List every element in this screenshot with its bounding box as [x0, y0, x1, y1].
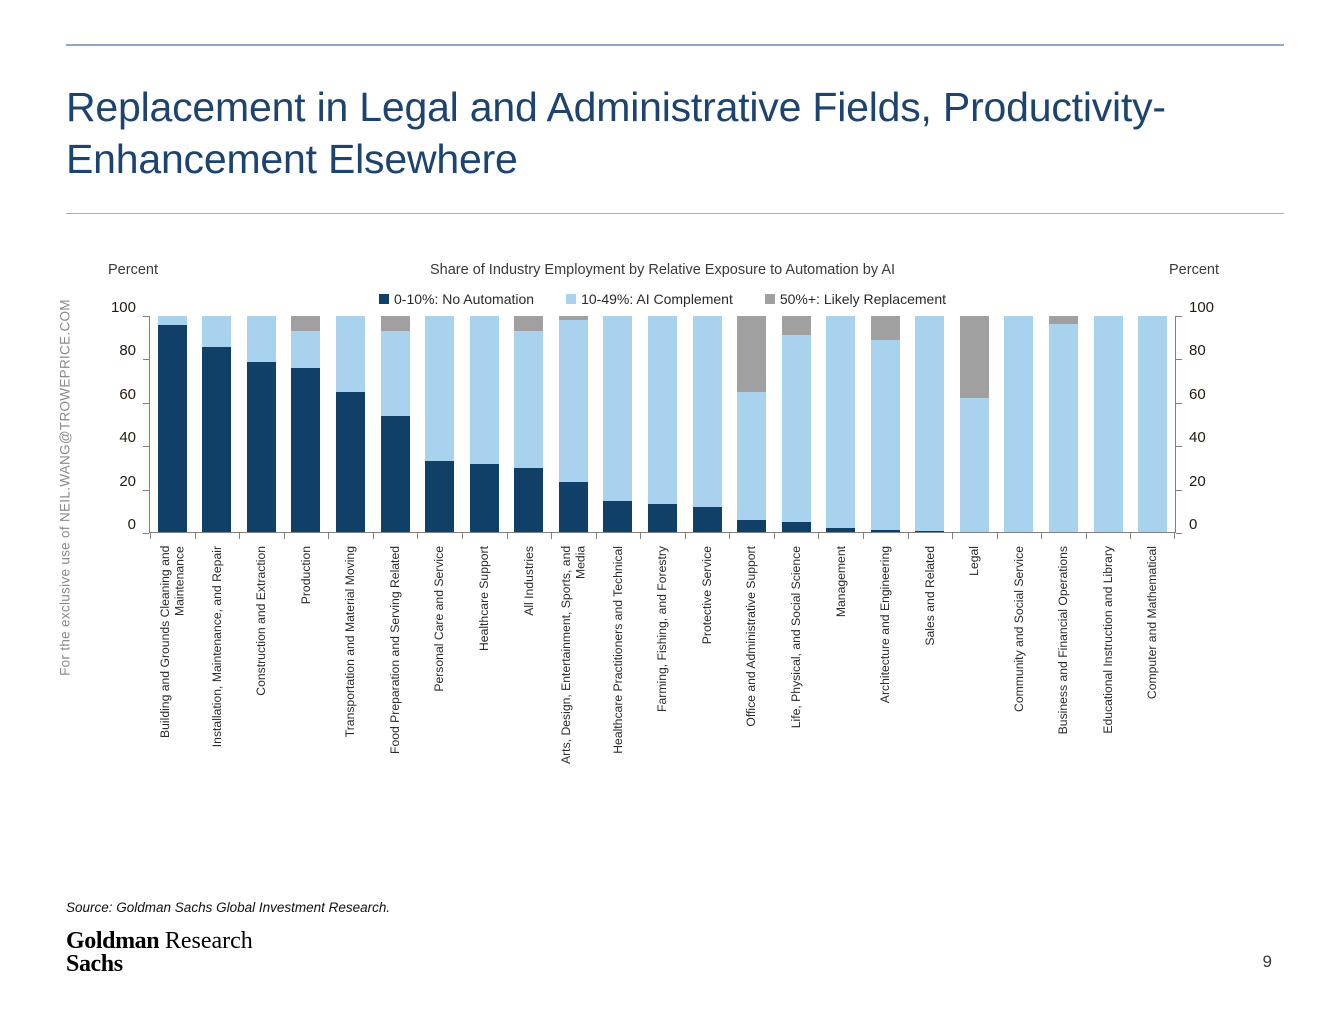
bar-segment-ai-complement: [470, 316, 499, 464]
category-label: Computer and Mathematical: [1145, 546, 1159, 699]
bar-slot: [417, 316, 462, 532]
bar-slot: [373, 316, 418, 532]
bar-segment-no-automation: [381, 416, 410, 532]
category-label-cell: Protective Service: [685, 546, 730, 776]
category-label: Arts, Design, Entertainment, Sports, and…: [559, 546, 588, 771]
bar-segment-likely-replacement: [782, 316, 811, 335]
logo-research: Research: [165, 928, 253, 954]
y-tick-mark-right: [1176, 403, 1182, 404]
bar-segment-ai-complement: [381, 331, 410, 416]
category-label-cell: Production: [284, 546, 329, 776]
stacked-bar[interactable]: [960, 316, 989, 532]
category-label: Life, Physical, and Social Science: [789, 546, 803, 728]
bar-slot: [596, 316, 641, 532]
category-label: Food Preparation and Serving Related: [388, 546, 402, 754]
category-label-cell: Food Preparation and Serving Related: [373, 546, 418, 776]
bar-segment-ai-complement: [782, 335, 811, 522]
bar-segment-likely-replacement: [1049, 316, 1078, 324]
bar-segment-no-automation: [826, 528, 855, 532]
y-tick-label-right-60: 60: [1189, 387, 1206, 402]
bar-segment-ai-complement: [425, 316, 454, 461]
bar-segment-ai-complement: [871, 340, 900, 530]
bar-segment-no-automation: [514, 468, 543, 532]
bar-slot: [1041, 316, 1086, 532]
stacked-bar[interactable]: [1049, 316, 1078, 532]
x-tick: [150, 533, 195, 539]
bar-segment-no-automation: [425, 461, 454, 532]
bar-segment-ai-complement: [915, 316, 944, 531]
y-tick-mark-right: [1176, 490, 1182, 491]
bar-segment-no-automation: [247, 362, 276, 532]
bar-slot: [952, 316, 997, 532]
bar-segment-no-automation: [559, 482, 588, 532]
category-label-cell: Healthcare Support: [462, 546, 507, 776]
category-label-cell: Office and Administrative Support: [729, 546, 774, 776]
bar-segment-likely-replacement: [381, 316, 410, 331]
stacked-bar[interactable]: [425, 316, 454, 532]
y-tick-label-right-80: 80: [1189, 343, 1206, 358]
bar-segment-likely-replacement: [514, 316, 543, 331]
bar-slot: [1086, 316, 1131, 532]
x-tick: [284, 533, 329, 539]
bar-segment-ai-complement: [1049, 324, 1078, 532]
bar-segment-ai-complement: [1094, 316, 1123, 532]
bar-segment-ai-complement: [737, 392, 766, 521]
y-tick-label-right-40: 40: [1189, 430, 1206, 445]
x-tick: [373, 533, 418, 539]
bar-slot: [239, 316, 284, 532]
bar-segment-no-automation: [291, 368, 320, 532]
bar-segment-ai-complement: [1004, 316, 1033, 532]
y-tick-label-left-40: 40: [119, 430, 136, 445]
bar-segment-no-automation: [158, 325, 187, 532]
category-label: Protective Service: [700, 546, 714, 644]
stacked-bar[interactable]: [158, 316, 187, 532]
x-tick: [239, 533, 284, 539]
y-axis-right-ticks: [1175, 316, 1181, 533]
bar-segment-ai-complement: [202, 316, 231, 347]
legend-swatch-no-automation: [379, 294, 389, 304]
bar-slot: [551, 316, 596, 532]
stacked-bar[interactable]: [336, 316, 365, 532]
stacked-bar[interactable]: [693, 316, 722, 532]
category-label: Personal Care and Service: [432, 546, 446, 692]
x-tick: [596, 533, 641, 539]
y-tick-label-left-80: 80: [119, 343, 136, 358]
stacked-bar[interactable]: [826, 316, 855, 532]
category-label-cell: Legal: [952, 546, 997, 776]
category-label: Community and Social Service: [1012, 546, 1026, 712]
category-label: All Industries: [522, 546, 536, 616]
category-label-cell: Business and Financial Operations: [1041, 546, 1086, 776]
bar-slot: [462, 316, 507, 532]
category-label: Production: [299, 546, 313, 604]
stacked-bar[interactable]: [381, 316, 410, 532]
logo-sachs: Sachs: [66, 953, 253, 976]
legend-label-likely-replacement: 50%+: Likely Replacement: [780, 291, 946, 307]
page-number: 9: [1263, 952, 1272, 972]
y-tick-mark-left: [143, 403, 149, 404]
stacked-bar[interactable]: [559, 316, 588, 532]
plot-area: 020406080100 020406080100 Building and G…: [100, 316, 1225, 538]
x-tick: [195, 533, 240, 539]
bar-segment-no-automation: [470, 464, 499, 532]
legend-item-no-automation[interactable]: 0-10%: No Automation: [379, 291, 534, 307]
category-label: Construction and Extraction: [254, 546, 268, 696]
page-title: Replacement in Legal and Administrative …: [66, 82, 1246, 185]
category-label: Building and Grounds Cleaning and Mainte…: [158, 546, 187, 771]
bar-segment-ai-complement: [514, 331, 543, 468]
bar-slot: [1130, 316, 1175, 532]
bar-slot: [150, 316, 195, 532]
category-label-cell: Transportation and Material Moving: [328, 546, 373, 776]
bar-segment-ai-complement: [603, 316, 632, 501]
category-label: Healthcare Practitioners and Technical: [611, 546, 625, 754]
y-axis-left: 020406080100: [100, 307, 136, 547]
category-label: Management: [834, 546, 848, 617]
x-tick: [729, 533, 774, 539]
category-label-cell: Arts, Design, Entertainment, Sports, and…: [551, 546, 596, 776]
bar-slot: [908, 316, 953, 532]
source-note: Source: Goldman Sachs Global Investment …: [66, 900, 390, 915]
category-label: Sales and Related: [923, 546, 937, 646]
category-label-cell: Farming, Fishing, and Forestry: [640, 546, 685, 776]
y-axis-right: 020406080100: [1189, 307, 1225, 547]
bar-slot: [640, 316, 685, 532]
category-label: Business and Financial Operations: [1056, 546, 1070, 734]
x-tick: [685, 533, 730, 539]
bar-segment-likely-replacement: [871, 316, 900, 340]
bar-series-group: [150, 316, 1175, 533]
bar-segment-no-automation: [336, 392, 365, 532]
category-label-cell: Healthcare Practitioners and Technical: [596, 546, 641, 776]
stacked-bar[interactable]: [1138, 316, 1167, 532]
x-tick: [952, 533, 997, 539]
bar-segment-ai-complement: [693, 316, 722, 507]
y-tick-mark-right: [1176, 359, 1182, 360]
bar-segment-likely-replacement: [737, 316, 766, 392]
stacked-bar[interactable]: [470, 316, 499, 532]
stacked-bar[interactable]: [1094, 316, 1123, 532]
stacked-bar[interactable]: [782, 316, 811, 532]
goldman-sachs-logo: Goldman Research Sachs: [66, 930, 253, 976]
bar-segment-likely-replacement: [291, 316, 320, 331]
category-label: Legal: [967, 546, 981, 576]
stacked-bar[interactable]: [737, 316, 766, 532]
bar-slot: [507, 316, 552, 532]
legend-label-ai-complement: 10-49%: AI Complement: [581, 291, 733, 307]
y-tick-label-left-100: 100: [111, 300, 136, 315]
bar-segment-ai-complement: [559, 320, 588, 482]
category-label: Farming, Fishing, and Forestry: [655, 546, 669, 712]
x-tick: [417, 533, 462, 539]
bar-segment-ai-complement: [247, 316, 276, 362]
category-label-cell: Life, Physical, and Social Science: [774, 546, 819, 776]
bar-segment-no-automation: [603, 501, 632, 532]
x-tick: [774, 533, 819, 539]
stacked-bar[interactable]: [291, 316, 320, 532]
bar-slot: [863, 316, 908, 532]
stacked-bar[interactable]: [514, 316, 543, 532]
stacked-bar[interactable]: [247, 316, 276, 532]
x-tick: [462, 533, 507, 539]
exclusive-use-watermark: For the exclusive use of NEIL.WANG@TROWE…: [58, 253, 73, 723]
category-label-cell: Building and Grounds Cleaning and Mainte…: [150, 546, 195, 776]
category-label-cell: Educational Instruction and Library: [1086, 546, 1131, 776]
bar-segment-no-automation: [871, 530, 900, 532]
x-tick: [1041, 533, 1086, 539]
bar-slot: [774, 316, 819, 532]
category-label: Educational Instruction and Library: [1101, 546, 1115, 734]
category-label-cell: Architecture and Engineering: [863, 546, 908, 776]
stacked-bar[interactable]: [648, 316, 677, 532]
bar-slot: [328, 316, 373, 532]
category-label-cell: Personal Care and Service: [417, 546, 462, 776]
header-divider-bottom: [66, 213, 1284, 214]
stacked-bar[interactable]: [202, 316, 231, 532]
category-label: Installation, Maintenance, and Repair: [210, 546, 224, 747]
bar-segment-ai-complement: [158, 316, 187, 325]
bar-segment-no-automation: [782, 522, 811, 532]
y-tick-mark-left: [143, 359, 149, 360]
bar-slot: [729, 316, 774, 532]
x-tick: [507, 533, 552, 539]
stacked-bar[interactable]: [871, 316, 900, 532]
y-tick-mark-left: [143, 533, 149, 534]
x-tick: [1086, 533, 1131, 539]
y-tick-mark-right: [1176, 316, 1182, 317]
x-axis-category-labels: Building and Grounds Cleaning and Mainte…: [150, 546, 1175, 776]
bar-slot: [195, 316, 240, 532]
x-tick: [1130, 533, 1175, 539]
y-tick-mark-left: [143, 490, 149, 491]
category-label-cell: Installation, Maintenance, and Repair: [195, 546, 240, 776]
category-label-cell: All Industries: [507, 546, 552, 776]
category-label: Architecture and Engineering: [878, 546, 892, 703]
bar-segment-no-automation: [202, 347, 231, 532]
category-label: Office and Administrative Support: [744, 546, 758, 727]
bar-segment-ai-complement: [1138, 316, 1167, 532]
x-tick: [997, 533, 1042, 539]
y-tick-label-right-20: 20: [1189, 474, 1206, 489]
x-tick: [640, 533, 685, 539]
legend-swatch-ai-complement: [566, 294, 576, 304]
bar-segment-ai-complement: [336, 316, 365, 392]
bar-segment-ai-complement: [648, 316, 677, 504]
bar-segment-ai-complement: [960, 398, 989, 532]
stacked-bar[interactable]: [1004, 316, 1033, 532]
x-tick: [551, 533, 596, 539]
y-tick-mark-left: [143, 316, 149, 317]
chart-topbar: Percent Share of Industry Employment by …: [100, 262, 1225, 284]
category-label-cell: Community and Social Service: [997, 546, 1042, 776]
bar-slot: [997, 316, 1042, 532]
y-tick-label-left-0: 0: [128, 517, 136, 532]
chart-title: Share of Industry Employment by Relative…: [100, 262, 1225, 278]
bar-segment-ai-complement: [291, 331, 320, 368]
category-label-cell: Management: [818, 546, 863, 776]
y-tick-mark-right: [1176, 446, 1182, 447]
bar-slot: [818, 316, 863, 532]
y-tick-mark-right: [1176, 533, 1182, 534]
stacked-bar[interactable]: [603, 316, 632, 532]
bar-segment-no-automation: [737, 520, 766, 532]
y-tick-mark-left: [143, 446, 149, 447]
category-label: Transportation and Material Moving: [343, 546, 357, 737]
category-label-cell: Computer and Mathematical: [1130, 546, 1175, 776]
bar-slot: [685, 316, 730, 532]
x-tick: [908, 533, 953, 539]
category-label: Healthcare Support: [477, 546, 491, 651]
stacked-bar[interactable]: [915, 316, 944, 532]
chart-legend: 0-10%: No Automation 10-49%: AI Compleme…: [100, 288, 1225, 310]
legend-swatch-likely-replacement: [765, 294, 775, 304]
x-tick: [328, 533, 373, 539]
bar-segment-likely-replacement: [960, 316, 989, 398]
y-tick-label-right-100: 100: [1189, 300, 1214, 315]
legend-item-ai-complement[interactable]: 10-49%: AI Complement: [566, 291, 733, 307]
bar-segment-ai-complement: [826, 316, 855, 528]
bar-segment-no-automation: [693, 507, 722, 532]
x-axis-ticks: [150, 533, 1175, 539]
y-tick-label-left-60: 60: [119, 387, 136, 402]
axis-unit-right: Percent: [1169, 262, 1219, 278]
y-tick-label-right-0: 0: [1189, 517, 1197, 532]
y-tick-label-left-20: 20: [119, 474, 136, 489]
header-divider-top: [66, 44, 1284, 46]
bar-segment-no-automation: [915, 531, 944, 532]
x-tick: [863, 533, 908, 539]
x-tick: [818, 533, 863, 539]
category-label-cell: Sales and Related: [908, 546, 953, 776]
bar-segment-no-automation: [648, 504, 677, 532]
category-label-cell: Construction and Extraction: [239, 546, 284, 776]
legend-item-likely-replacement[interactable]: 50%+: Likely Replacement: [765, 291, 946, 307]
chart-container: Percent Share of Industry Employment by …: [100, 262, 1225, 762]
bar-slot: [284, 316, 329, 532]
legend-label-no-automation: 0-10%: No Automation: [394, 291, 534, 307]
